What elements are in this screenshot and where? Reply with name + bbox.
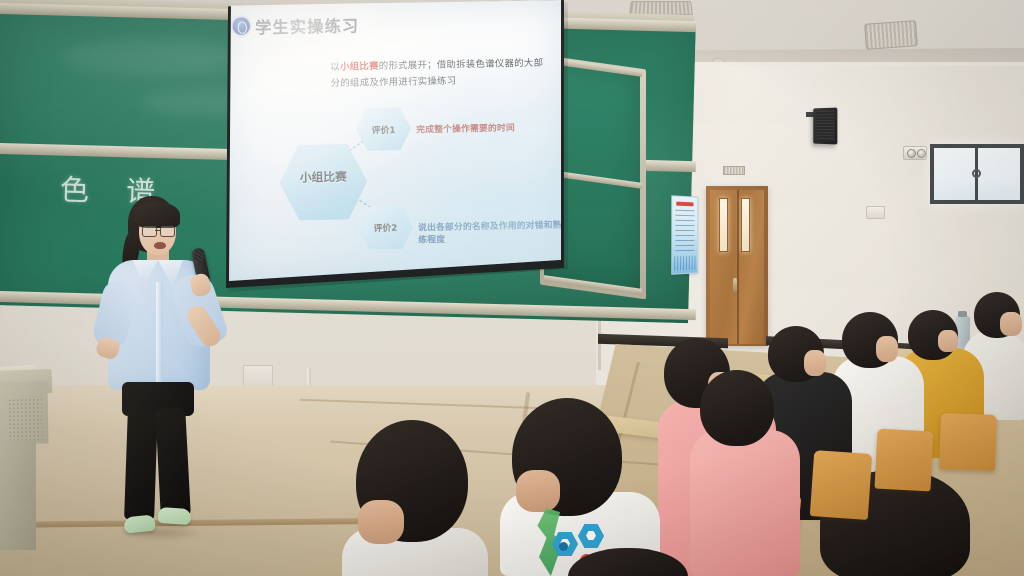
door-transom-vent (723, 166, 745, 175)
sliding-window (930, 144, 1024, 204)
chalk-smudge (60, 40, 240, 74)
floor-speaker-cabinet-body (0, 440, 36, 550)
door-handle-icon[interactable] (733, 278, 737, 292)
shirt-graphic-hexagon-inner (586, 531, 596, 540)
auditorium-chair[interactable] (810, 450, 872, 520)
teacher-presenter (92, 196, 232, 541)
poster-title-bar (676, 202, 693, 207)
projection-screen: 学生实操练习 以小组比赛的形式展开；借助拆装色谱仪器的大部分的组成及作用进行实操… (229, 0, 561, 281)
diagram-node-text-1: 完成整个操作需要的时间 (416, 121, 515, 135)
student-face (804, 350, 826, 376)
poster-text-lines (675, 210, 694, 255)
school-badge-icon (232, 17, 250, 35)
diagram-node-tag-2: 评价2 (358, 221, 413, 234)
emergency-light (903, 146, 927, 160)
shirt-graphic-hexagon (578, 524, 604, 548)
diagram-node-text-2: 说出各部分的名称及作用的对错和熟练程度 (418, 218, 561, 245)
teacher-shirt-placket (156, 282, 163, 388)
glasses-bridge (155, 230, 161, 231)
teacher-left-shoe (123, 514, 156, 533)
teacher-right-shoe (157, 507, 191, 525)
door-center-seam (737, 190, 739, 344)
shirt-graphic-dot (559, 542, 568, 551)
door-glass-panel (719, 198, 728, 252)
diagram-node-tag-1: 评价1 (356, 123, 411, 136)
poster-footer-graphic (674, 256, 695, 271)
slide-body-text: 以小组比赛的形式展开；借助拆装色谱仪器的大部分的组成及作用进行实操练习 (330, 55, 550, 92)
student-shirt (690, 430, 800, 576)
wall-speaker (813, 108, 837, 145)
student-head (700, 370, 774, 446)
student-face (876, 336, 898, 362)
student-neck (358, 500, 404, 544)
slide-body-highlight: 小组比赛 (340, 61, 379, 73)
diagram-center-label: 小组比赛 (279, 168, 367, 186)
ceiling-air-vent-secondary (864, 20, 918, 50)
door-glass-panel (741, 198, 750, 252)
auditorium-chair[interactable] (939, 413, 997, 471)
wall-light-switch[interactable] (866, 206, 885, 219)
wooden-double-door[interactable] (710, 190, 764, 344)
wall-notice-poster (671, 195, 698, 275)
window-latch-icon[interactable] (972, 169, 981, 178)
student-face (1000, 312, 1022, 336)
teacher-hair-front (134, 202, 180, 228)
slide-title: 学生实操练习 (255, 12, 360, 38)
auditorium-chair[interactable] (874, 429, 933, 492)
student-neck (516, 470, 560, 512)
teacher-right-leg (155, 407, 191, 516)
presentation-slide: 学生实操练习 以小组比赛的形式展开；借助拆装色谱仪器的大部分的组成及作用进行实操… (229, 0, 561, 281)
speaker-grille-icon (8, 398, 43, 443)
slide-body-lead: 以 (330, 61, 340, 72)
student-face (938, 330, 958, 352)
teacher-left-leg (124, 408, 158, 521)
classroom-photo-scene: 色 谱 学生实操练习 以小组比赛的形式展开；借助拆装色谱仪器的大部分的组成及作用… (0, 0, 1024, 576)
teacher-mouth (154, 242, 166, 249)
